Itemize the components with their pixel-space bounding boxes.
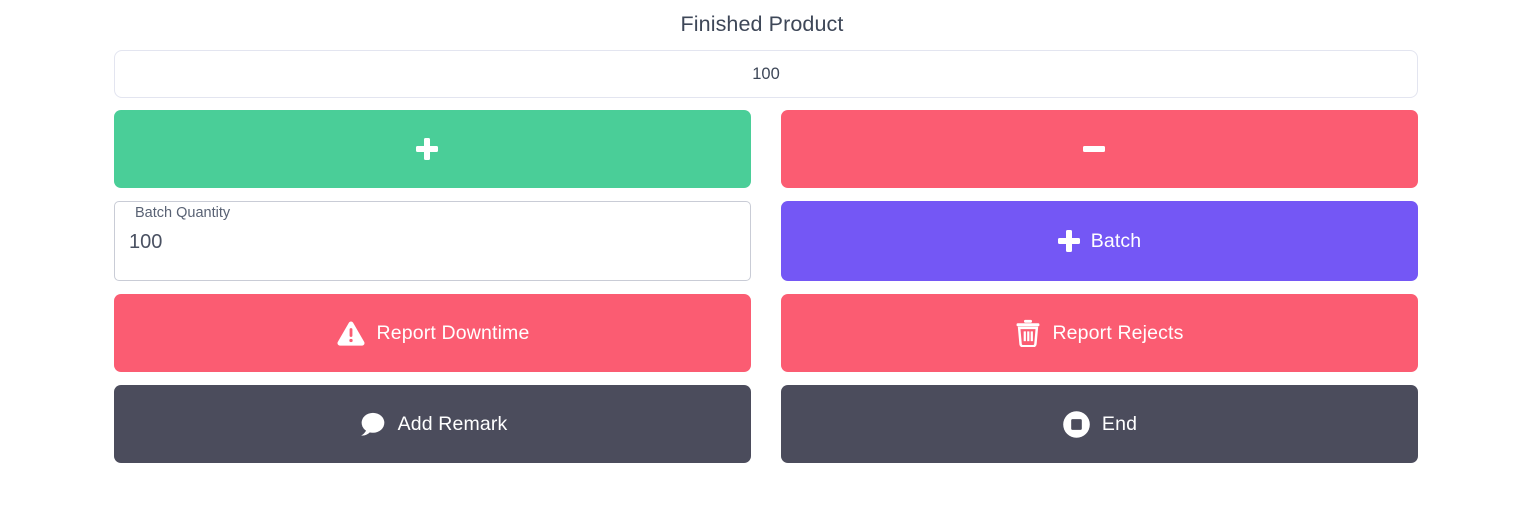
report-rejects-button[interactable]: Report Rejects: [781, 294, 1418, 372]
add-remark-label: Add Remark: [398, 415, 508, 435]
report-row: Report Downtime Repo: [114, 294, 1418, 372]
plus-icon: [1058, 230, 1080, 252]
add-remark-cell: Add Remark: [114, 385, 751, 463]
report-downtime-cell: Report Downtime: [114, 294, 751, 372]
batch-row: Batch Quantity Batch: [114, 201, 1418, 281]
comment-bubble-icon: [358, 411, 387, 438]
stepper-row: [114, 110, 1418, 188]
batch-quantity-field[interactable]: Batch Quantity: [114, 201, 751, 281]
batch-button-cell: Batch: [781, 201, 1418, 281]
report-downtime-label: Report Downtime: [377, 324, 530, 344]
add-remark-button[interactable]: Add Remark: [114, 385, 751, 463]
report-rejects-label: Report Rejects: [1052, 324, 1183, 344]
batch-quantity-cell: Batch Quantity: [114, 201, 751, 281]
batch-button-label: Batch: [1091, 232, 1142, 252]
increment-button[interactable]: [114, 110, 751, 188]
batch-button[interactable]: Batch: [781, 201, 1418, 281]
footer-row: Add Remark End: [114, 385, 1418, 463]
finished-product-panel: Finished Product: [0, 0, 1524, 516]
batch-quantity-input[interactable]: [129, 230, 736, 254]
decrement-cell: [781, 110, 1418, 188]
end-cell: End: [781, 385, 1418, 463]
content-area: Batch Quantity Batch: [114, 50, 1418, 476]
minus-icon: [1083, 146, 1105, 152]
end-label: End: [1102, 415, 1137, 435]
quantity-row: [114, 50, 1418, 98]
trash-icon: [1015, 319, 1041, 347]
quantity-cell: [114, 50, 1418, 98]
plus-icon: [415, 137, 439, 161]
decrement-button[interactable]: [781, 110, 1418, 188]
finished-product-quantity-input[interactable]: [114, 50, 1418, 98]
batch-quantity-label: Batch Quantity: [130, 205, 235, 221]
end-button[interactable]: End: [781, 385, 1418, 463]
report-rejects-cell: Report Rejects: [781, 294, 1418, 372]
increment-cell: [114, 110, 751, 188]
page-title: Finished Product: [0, 10, 1524, 38]
report-downtime-button[interactable]: Report Downtime: [114, 294, 751, 372]
warning-triangle-icon: [336, 320, 366, 347]
stop-circle-icon: [1062, 410, 1091, 439]
